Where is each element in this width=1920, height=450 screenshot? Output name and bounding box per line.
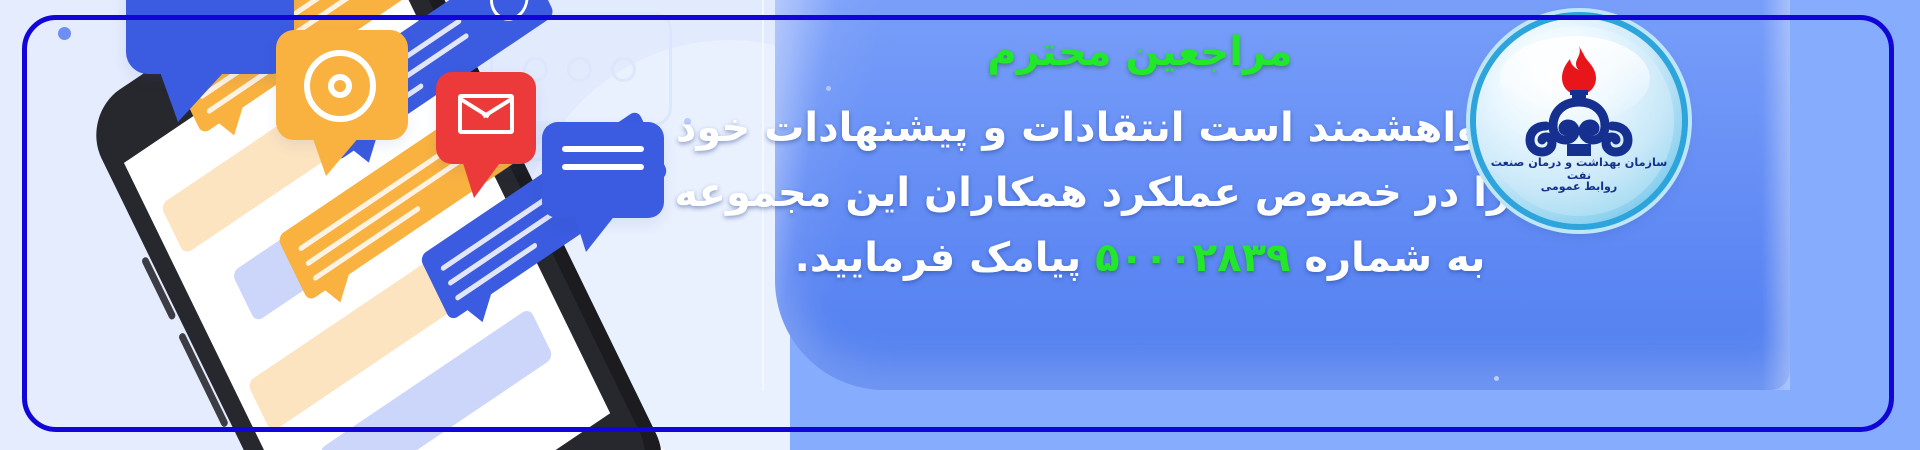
- nioc-health-organization-logo: سازمان بهداشت و درمان صنعت نفت روابط عمو…: [1476, 18, 1682, 224]
- bubble-orange-at: [276, 30, 408, 140]
- envelope-icon: [458, 94, 514, 134]
- nioc-emblem-icon: [1506, 88, 1652, 164]
- body-line-2: را در خصوص عملکرد همکاران این مجموعه: [770, 161, 1510, 226]
- decorative-dot: [58, 27, 71, 40]
- cta-suffix: پیامک فرمایید.: [795, 235, 1095, 281]
- body-line-1: خواهشمند است انتقادات و پیشنهادات خود: [770, 96, 1510, 161]
- page-title: مراجعین محترم: [770, 32, 1510, 72]
- logo-org-name: سازمان بهداشت و درمان صنعت نفت: [1482, 156, 1676, 182]
- logo-department: روابط عمومی: [1484, 180, 1674, 193]
- sms-shortcode-number: ۵۰۰۰۲۸۳۹: [1095, 235, 1290, 281]
- at-sign-icon: [304, 50, 376, 122]
- bubble-blue-typing-dots: [126, 0, 294, 74]
- panel-speck: [1494, 376, 1499, 381]
- banner-root: مراجعین محترم خواهشمند است انتقادات و پی…: [0, 0, 1920, 450]
- phone-volume-button: [141, 256, 177, 321]
- cta-line: به شماره ۵۰۰۰۲۸۳۹ پیامک فرمایید.: [770, 226, 1510, 291]
- bubble-blue-lines: [542, 122, 664, 218]
- logo-disc: سازمان بهداشت و درمان صنعت نفت روابط عمو…: [1484, 26, 1674, 216]
- bubble-red-envelope: [436, 72, 536, 164]
- sms-messaging-illustration: [0, 0, 790, 450]
- message-text-block: مراجعین محترم خواهشمند است انتقادات و پی…: [770, 18, 1510, 348]
- cta-prefix: به شماره: [1290, 235, 1485, 281]
